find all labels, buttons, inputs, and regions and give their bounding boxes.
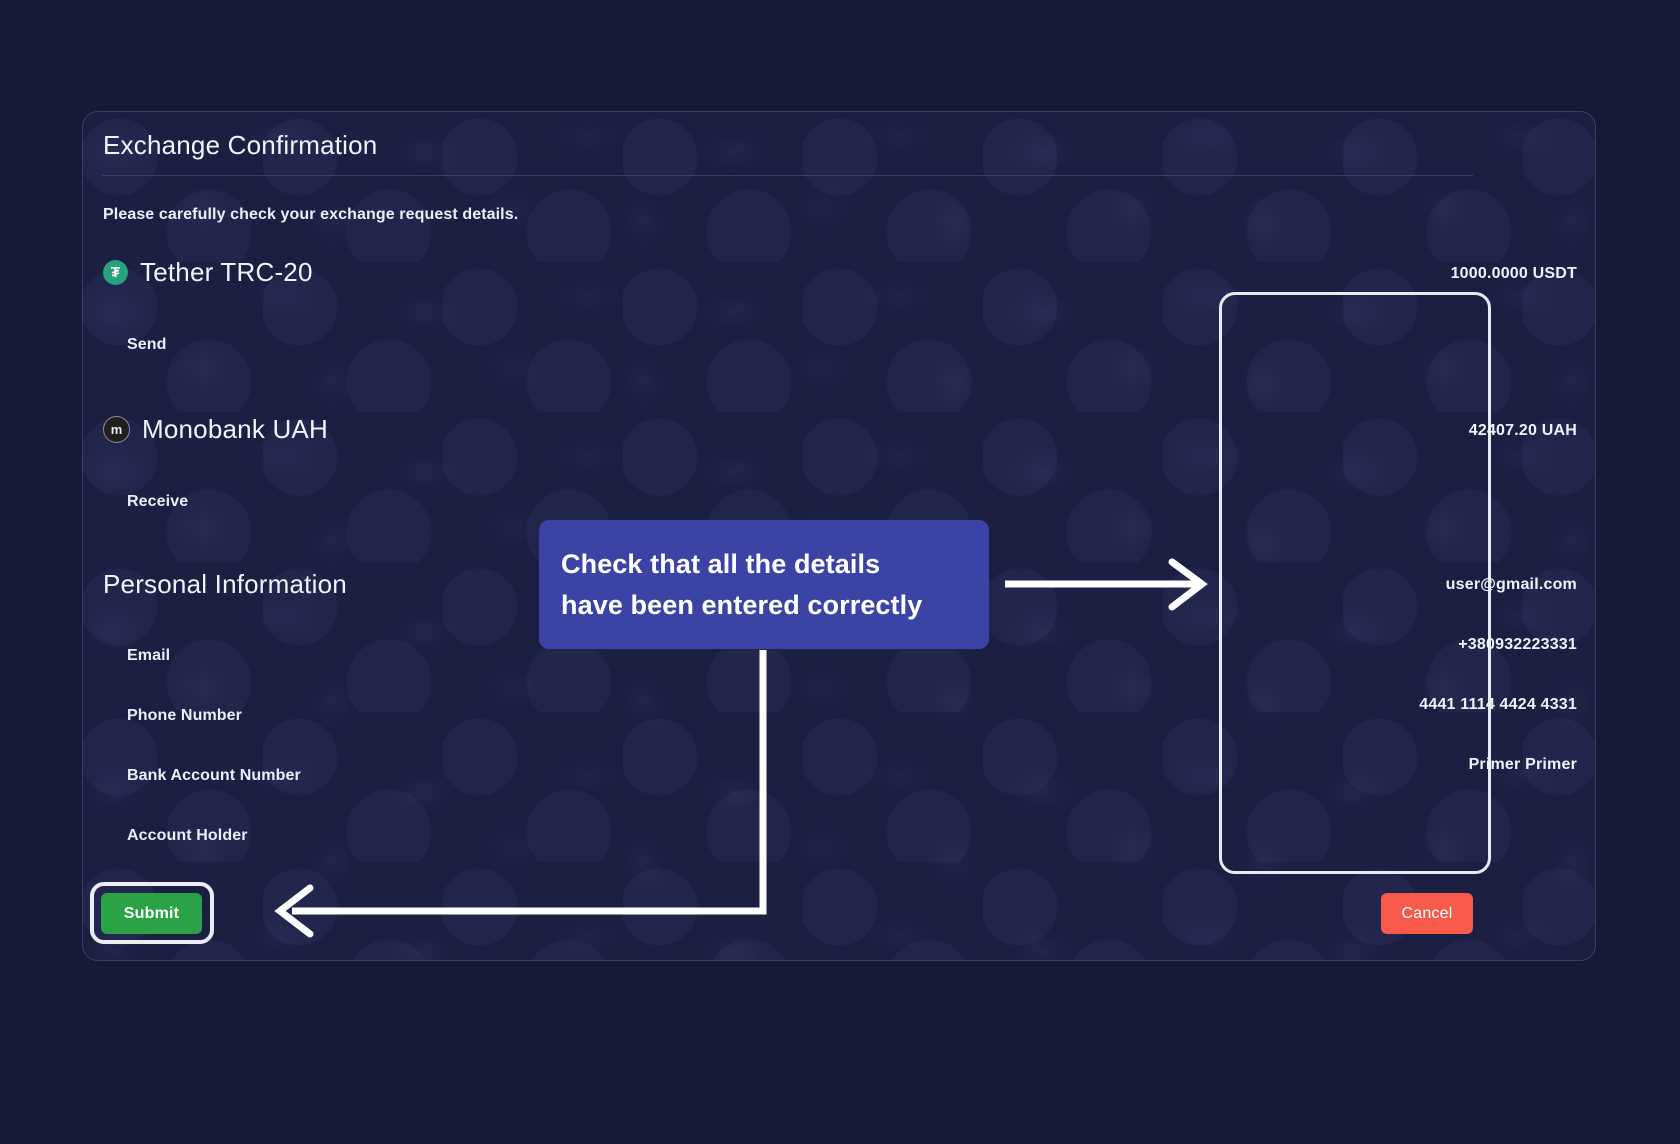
annotation-line-1: Check that all the details [561,544,967,585]
annotation-callout: Check that all the details have been ent… [539,520,989,649]
send-field-label: Send [127,336,167,354]
account-holder-value: Primer Primer [1469,756,1577,774]
submit-button[interactable]: Submit [101,893,202,934]
phone-number-value: +380932223331 [1458,636,1577,654]
send-amount-value: 1000.0000 USDT [1451,265,1577,283]
annotation-line-2: have been entered correctly [561,585,967,626]
cancel-button[interactable]: Cancel [1381,893,1473,934]
personal-information-heading: Personal Information [103,569,347,600]
bank-account-field-label: Bank Account Number [127,767,301,785]
tether-icon: ₮ [103,260,128,285]
card-subtitle: Please carefully check your exchange req… [103,206,518,224]
bank-account-value: 4441 1114 4424 4331 [1419,696,1577,714]
page-backdrop: Exchange Confirmation Please carefully c… [0,0,1680,1144]
receive-amount-value: 42407.20 UAH [1469,422,1577,440]
send-asset-row: ₮ Tether TRC-20 [103,257,313,288]
email-value: user@gmail.com [1446,576,1577,594]
account-holder-field-label: Account Holder [127,827,248,845]
email-field-label: Email [127,647,170,665]
receive-field-label: Receive [127,493,188,511]
send-asset-name: Tether TRC-20 [140,257,313,288]
monobank-icon: m [103,416,130,443]
receive-asset-name: Monobank UAH [142,414,328,445]
phone-number-field-label: Phone Number [127,707,242,725]
receive-asset-row: m Monobank UAH [103,414,328,445]
